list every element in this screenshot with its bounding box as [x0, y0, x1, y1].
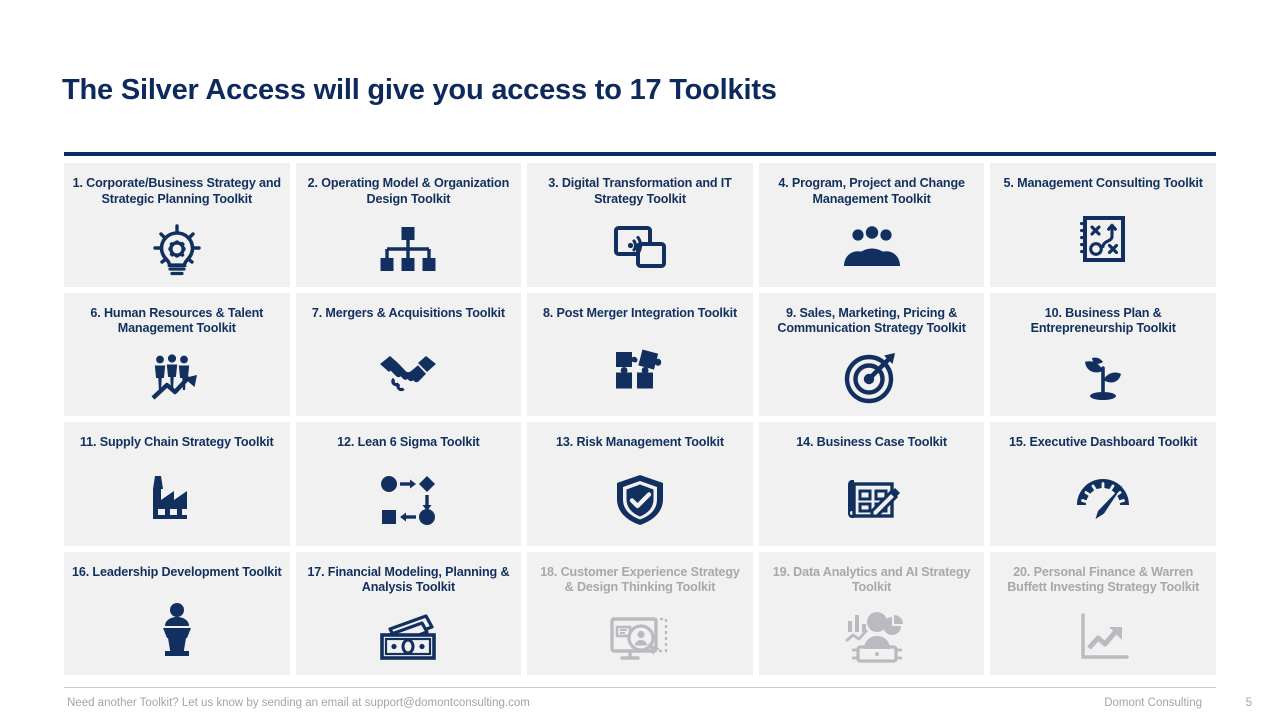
- toolkit-card-title: 7. Mergers & Acquisitions Toolkit: [305, 306, 512, 322]
- toolkit-card-18[interactable]: 18. Customer Experience Strategy & Desig…: [527, 552, 753, 676]
- toolkit-card-title: 8. Post Merger Integration Toolkit: [536, 306, 744, 322]
- puzzle-pieces-icon: [527, 321, 753, 416]
- toolkit-card-2[interactable]: 2. Operating Model & Organization Design…: [296, 163, 522, 287]
- strategy-notepad-icon: [990, 192, 1216, 287]
- sprout-plant-icon: [990, 337, 1216, 416]
- toolkit-card-8[interactable]: 8. Post Merger Integration Toolkit: [527, 293, 753, 417]
- toolkit-card-1[interactable]: 1. Corporate/Business Strategy and Strat…: [64, 163, 290, 287]
- toolkit-card-title: 17. Financial Modeling, Planning & Analy…: [296, 565, 522, 597]
- toolkit-card-title: 2. Operating Model & Organization Design…: [296, 176, 522, 208]
- toolkit-card-11[interactable]: 11. Supply Chain Strategy Toolkit: [64, 422, 290, 546]
- toolkit-card-title: 9. Sales, Marketing, Pricing & Communica…: [759, 306, 985, 338]
- toolkit-card-5[interactable]: 5. Management Consulting Toolkit: [990, 163, 1216, 287]
- handshake-icon: [296, 321, 522, 416]
- toolkit-card-title: 13. Risk Management Toolkit: [549, 435, 731, 451]
- banknotes-icon: [296, 596, 522, 675]
- analytics-person-icon: [759, 596, 985, 675]
- toolkit-card-title: 15. Executive Dashboard Toolkit: [1002, 435, 1204, 451]
- toolkit-card-title: 19. Data Analytics and AI Strategy Toolk…: [759, 565, 985, 597]
- toolkit-card-10[interactable]: 10. Business Plan & Entrepreneurship Too…: [990, 293, 1216, 417]
- toolkit-card-9[interactable]: 9. Sales, Marketing, Pricing & Communica…: [759, 293, 985, 417]
- toolkit-card-20[interactable]: 20. Personal Finance & Warren Buffett In…: [990, 552, 1216, 676]
- people-growth-icon: [64, 337, 290, 416]
- factory-icon: [64, 451, 290, 546]
- blueprint-pencil-icon: [759, 451, 985, 546]
- slide: The Silver Access will give you access t…: [0, 0, 1280, 720]
- target-arrow-icon: [759, 337, 985, 416]
- toolkit-card-title: 3. Digital Transformation and IT Strateg…: [527, 176, 753, 208]
- toolkit-card-19[interactable]: 19. Data Analytics and AI Strategy Toolk…: [759, 552, 985, 676]
- gauge-icon: [990, 451, 1216, 546]
- footer-company: Domont Consulting: [1104, 697, 1202, 709]
- toolkit-card-title: 1. Corporate/Business Strategy and Strat…: [64, 176, 290, 208]
- process-flow-icon: [296, 451, 522, 546]
- toolkit-card-17[interactable]: 17. Financial Modeling, Planning & Analy…: [296, 552, 522, 676]
- org-chart-icon: [296, 208, 522, 287]
- toolkit-card-title: 16. Leadership Development Toolkit: [65, 565, 289, 581]
- people-group-icon: [759, 208, 985, 287]
- toolkit-card-16[interactable]: 16. Leadership Development Toolkit: [64, 552, 290, 676]
- toolkit-card-title: 4. Program, Project and Change Managemen…: [759, 176, 985, 208]
- toolkit-card-title: 6. Human Resources & Talent Management T…: [64, 306, 290, 338]
- page-title: The Silver Access will give you access t…: [62, 74, 777, 107]
- title-divider: [64, 152, 1216, 156]
- toolkit-card-title: 18. Customer Experience Strategy & Desig…: [527, 565, 753, 597]
- toolkit-grid: 1. Corporate/Business Strategy and Strat…: [64, 163, 1216, 675]
- toolkit-card-12[interactable]: 12. Lean 6 Sigma Toolkit: [296, 422, 522, 546]
- toolkit-card-title: 14. Business Case Toolkit: [789, 435, 954, 451]
- toolkit-card-title: 12. Lean 6 Sigma Toolkit: [330, 435, 486, 451]
- toolkit-card-title: 20. Personal Finance & Warren Buffett In…: [990, 565, 1216, 597]
- toolkit-card-7[interactable]: 7. Mergers & Acquisitions Toolkit: [296, 293, 522, 417]
- toolkit-card-3[interactable]: 3. Digital Transformation and IT Strateg…: [527, 163, 753, 287]
- page-number: 5: [1246, 697, 1252, 709]
- lightbulb-gear-icon: [64, 208, 290, 287]
- footer-divider: [64, 687, 1216, 688]
- monitor-user-icon: [527, 596, 753, 675]
- toolkit-card-title: 11. Supply Chain Strategy Toolkit: [73, 435, 281, 451]
- podium-speaker-icon: [64, 580, 290, 675]
- toolkit-card-15[interactable]: 15. Executive Dashboard Toolkit: [990, 422, 1216, 546]
- shield-check-icon: [527, 451, 753, 546]
- growth-chart-icon: [990, 596, 1216, 675]
- toolkit-card-title: 10. Business Plan & Entrepreneurship Too…: [990, 306, 1216, 338]
- toolkit-card-14[interactable]: 14. Business Case Toolkit: [759, 422, 985, 546]
- footer-note: Need another Toolkit? Let us know by sen…: [67, 697, 530, 709]
- toolkit-card-13[interactable]: 13. Risk Management Toolkit: [527, 422, 753, 546]
- toolkit-card-4[interactable]: 4. Program, Project and Change Managemen…: [759, 163, 985, 287]
- wireless-devices-icon: [527, 208, 753, 287]
- toolkit-card-title: 5. Management Consulting Toolkit: [997, 176, 1210, 192]
- toolkit-card-6[interactable]: 6. Human Resources & Talent Management T…: [64, 293, 290, 417]
